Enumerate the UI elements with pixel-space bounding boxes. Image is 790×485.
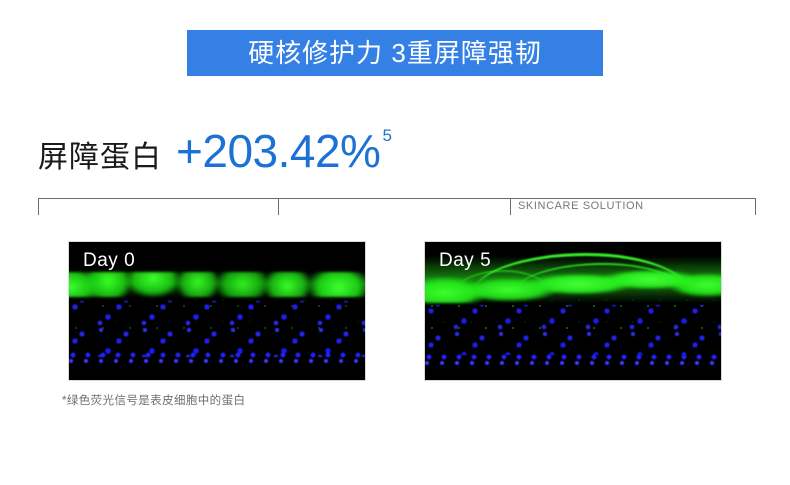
divider-caption: SKINCARE SOLUTION: [518, 198, 644, 214]
microscopy-panel-day-5: Day 5: [424, 241, 722, 381]
blue-nuclei-field: [425, 305, 721, 355]
blue-basal-layer: [69, 350, 365, 365]
title-banner-text: 硬核修护力 3重屏障强韧: [248, 40, 542, 66]
divider-tick-middle: [278, 198, 279, 215]
footnote-text: *绿色荧光信号是表皮细胞中的蛋白: [62, 393, 245, 409]
panel-label-day-5: Day 5: [439, 250, 491, 273]
divider-tick-third: [510, 198, 511, 215]
title-banner: 硬核修护力 3重屏障强韧: [187, 30, 603, 76]
headline-stat: 屏障蛋白 +203.42% 5: [38, 128, 390, 174]
blue-nuclei-field: [69, 301, 365, 356]
green-fluorescence-band: [68, 272, 366, 297]
divider-rule: [38, 198, 755, 199]
skincare-efficacy-slide: { "banner": { "title": "硬核修护力 3重屏障强韧", "…: [0, 0, 790, 485]
stat-value: +203.42%: [176, 128, 380, 174]
blue-basal-layer: [425, 352, 721, 367]
panel-label-day-0: Day 0: [83, 250, 135, 273]
microscopy-panel-day-0: Day 0: [68, 241, 366, 381]
stat-footnote-marker: 5: [382, 127, 391, 144]
stat-label: 屏障蛋白: [38, 143, 162, 173]
divider-tick-left: [38, 198, 39, 215]
divider-tick-right: [755, 198, 756, 215]
